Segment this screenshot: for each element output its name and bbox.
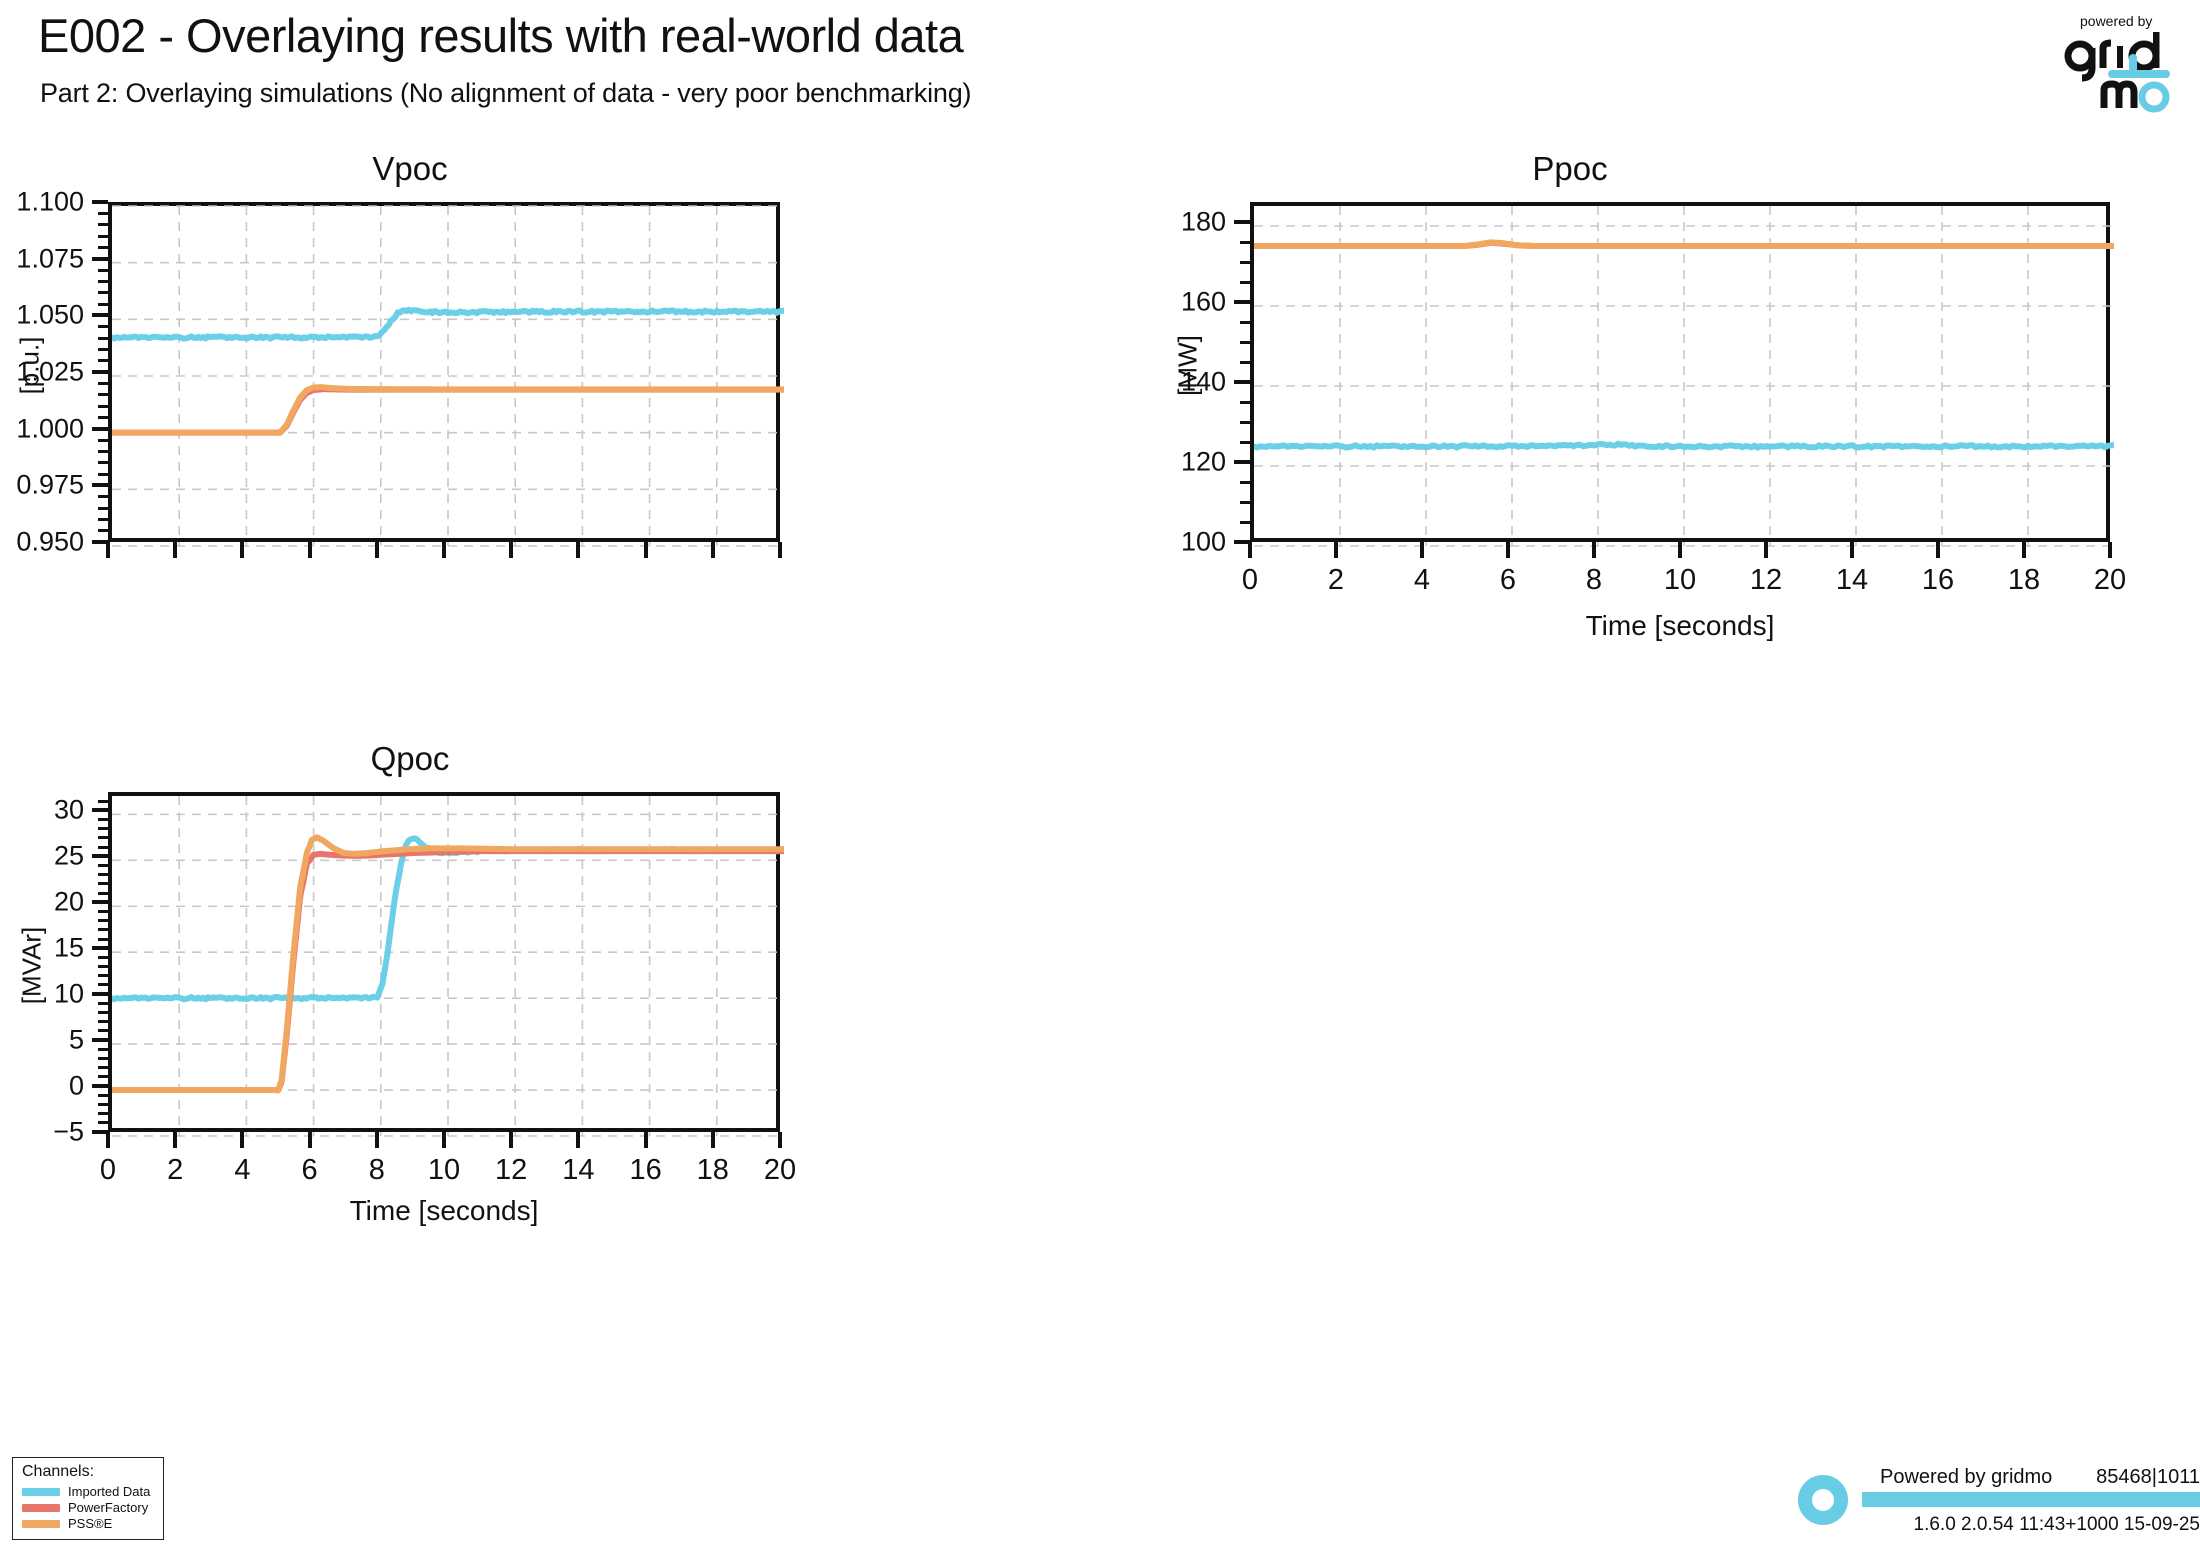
y-tick-minor — [98, 1048, 108, 1051]
y-tick-label: 5 — [0, 1025, 84, 1056]
x-tick-label: 18 — [697, 1154, 729, 1187]
y-tick-label: 1.075 — [0, 243, 84, 274]
page-subtitle: Part 2: Overlaying simulations (No align… — [40, 78, 971, 109]
y-tick-minor — [98, 507, 108, 510]
y-tick-minor — [1240, 241, 1250, 244]
y-tick-minor — [98, 303, 108, 306]
y-tick-minor — [98, 836, 108, 839]
y-tick-minor — [98, 382, 108, 385]
x-tick-label: 6 — [302, 1154, 318, 1187]
y-tick-minor — [98, 450, 108, 453]
x-tick-major — [106, 542, 110, 558]
x-tick-label: 18 — [2008, 564, 2040, 597]
plot-area-vpoc — [108, 202, 780, 542]
series-line-pss-e — [112, 387, 784, 433]
x-tick-major — [1850, 542, 1854, 558]
y-tick-major — [1234, 380, 1250, 384]
x-tick-major — [711, 1132, 715, 1148]
y-tick-label: 0 — [0, 1071, 84, 1102]
x-tick-major — [308, 542, 312, 558]
y-tick-minor — [1240, 521, 1250, 524]
legend-label-imported-data: Imported Data — [68, 1484, 150, 1499]
y-tick-minor — [98, 892, 108, 895]
y-tick-minor — [1240, 441, 1250, 444]
y-tick-label: 1.100 — [0, 187, 84, 218]
y-tick-minor — [98, 348, 108, 351]
x-tick-major — [106, 1132, 110, 1148]
footer-accent-circle-icon — [1798, 1475, 1848, 1525]
x-tick-label: 20 — [2094, 564, 2126, 597]
x-tick-label: 4 — [234, 1154, 250, 1187]
footer-run-id: 85468|1011 — [2096, 1466, 2200, 1489]
x-tick-major — [1506, 542, 1510, 558]
x-tick-label: 14 — [562, 1154, 594, 1187]
chart-title-ppoc: Ppoc — [1060, 150, 2080, 188]
x-tick-major — [711, 542, 715, 558]
y-tick-major — [92, 427, 108, 431]
x-tick-major — [2108, 542, 2112, 558]
x-tick-label: 8 — [369, 1154, 385, 1187]
legend-channels: Channels: Imported Data PowerFactory PSS… — [12, 1457, 164, 1540]
y-tick-minor — [1240, 421, 1250, 424]
y-tick-minor — [98, 938, 108, 941]
y-tick-minor — [98, 974, 108, 977]
x-tick-label: 0 — [1242, 564, 1258, 597]
x-tick-major — [375, 542, 379, 558]
y-tick-major — [92, 257, 108, 261]
x-tick-major — [576, 1132, 580, 1148]
y-tick-minor — [98, 864, 108, 867]
x-tick-major — [1678, 542, 1682, 558]
y-tick-label: 15 — [0, 933, 84, 964]
x-tick-label: 0 — [100, 1154, 116, 1187]
y-tick-minor — [1240, 341, 1250, 344]
y-tick-label: 1.025 — [0, 357, 84, 388]
plot-canvas-qpoc — [112, 796, 784, 1136]
y-tick-major — [1234, 220, 1250, 224]
x-tick-major — [240, 542, 244, 558]
x-tick-major — [1936, 542, 1940, 558]
x-tick-major — [1248, 542, 1252, 558]
x-tick-major — [778, 1132, 782, 1148]
y-tick-major — [92, 1084, 108, 1088]
legend-title: Channels: — [22, 1463, 154, 1481]
y-tick-minor — [98, 405, 108, 408]
y-tick-minor — [98, 882, 108, 885]
x-tick-label: 12 — [495, 1154, 527, 1187]
y-tick-minor — [98, 269, 108, 272]
y-tick-major — [92, 900, 108, 904]
y-tick-minor — [98, 223, 108, 226]
x-tick-major — [173, 542, 177, 558]
svg-text:powered by: powered by — [2080, 13, 2152, 29]
x-tick-major — [778, 542, 782, 558]
legend-swatch-psse — [22, 1520, 60, 1528]
y-tick-major — [92, 1038, 108, 1042]
figure-page: E002 - Overlaying results with real-worl… — [0, 0, 2200, 1546]
x-tick-label: 12 — [1750, 564, 1782, 597]
chart-title-qpoc: Qpoc — [0, 740, 820, 778]
x-tick-label: 14 — [1836, 564, 1868, 597]
x-tick-major — [442, 1132, 446, 1148]
y-tick-minor — [98, 337, 108, 340]
y-tick-minor — [98, 246, 108, 249]
y-tick-minor — [98, 1011, 108, 1014]
x-tick-major — [644, 542, 648, 558]
y-tick-minor — [1240, 281, 1250, 284]
y-tick-minor — [98, 495, 108, 498]
y-tick-minor — [98, 1094, 108, 1097]
y-tick-minor — [98, 827, 108, 830]
x-tick-major — [509, 542, 513, 558]
chart-title-vpoc: Vpoc — [0, 150, 820, 188]
y-tick-minor — [1240, 481, 1250, 484]
y-tick-minor — [98, 439, 108, 442]
y-tick-minor — [98, 473, 108, 476]
x-tick-major — [644, 1132, 648, 1148]
y-tick-minor — [98, 393, 108, 396]
y-tick-minor — [1240, 401, 1250, 404]
chart-ppoc: Ppoc [MW] Time [seconds] 100120140160180… — [1180, 150, 2200, 570]
page-title: E002 - Overlaying results with real-worl… — [38, 8, 963, 63]
y-tick-minor — [98, 1057, 108, 1060]
legend-item-powerfactory: PowerFactory — [22, 1500, 154, 1515]
y-tick-minor — [98, 965, 108, 968]
y-tick-minor — [1240, 501, 1250, 504]
footer-accent-bar — [1862, 1492, 2200, 1507]
y-tick-label: 1.050 — [0, 300, 84, 331]
y-tick-major — [1234, 460, 1250, 464]
y-tick-minor — [98, 359, 108, 362]
x-tick-label: 10 — [428, 1154, 460, 1187]
footer-version: 1.6.0 2.0.54 11:43+1000 15-09-25 — [1914, 1514, 2200, 1536]
y-tick-minor — [98, 212, 108, 215]
x-tick-label: 8 — [1586, 564, 1602, 597]
chart-vpoc: Vpoc [p.u.] 0.9500.9751.0001.0251.0501.0… — [0, 150, 820, 570]
plot-area-qpoc — [108, 792, 780, 1132]
y-tick-minor — [98, 1066, 108, 1069]
y-tick-minor — [98, 1103, 108, 1106]
y-tick-label: 100 — [1070, 527, 1226, 558]
y-tick-minor — [98, 1112, 108, 1115]
y-tick-major — [1234, 300, 1250, 304]
x-tick-label: 16 — [1922, 564, 1954, 597]
axis-label-y-ppoc: [MW] — [1173, 306, 1204, 426]
x-tick-major — [576, 542, 580, 558]
y-tick-major — [92, 313, 108, 317]
y-tick-minor — [98, 818, 108, 821]
y-tick-major — [92, 946, 108, 950]
y-tick-minor — [98, 529, 108, 532]
x-tick-label: 2 — [167, 1154, 183, 1187]
legend-label-powerfactory: PowerFactory — [68, 1500, 148, 1515]
x-tick-major — [1592, 542, 1596, 558]
x-tick-major — [1420, 542, 1424, 558]
legend-swatch-powerfactory — [22, 1504, 60, 1512]
x-tick-label: 2 — [1328, 564, 1344, 597]
legend-swatch-imported-data — [22, 1488, 60, 1496]
legend-item-imported-data: Imported Data — [22, 1484, 154, 1499]
y-tick-minor — [1240, 321, 1250, 324]
y-tick-minor — [98, 928, 108, 931]
x-tick-major — [240, 1132, 244, 1148]
y-tick-minor — [98, 1075, 108, 1078]
x-tick-major — [375, 1132, 379, 1148]
legend-item-psse: PSS®E — [22, 1516, 154, 1531]
plot-area-ppoc — [1250, 202, 2110, 542]
y-tick-label: 10 — [0, 979, 84, 1010]
x-tick-major — [2022, 542, 2026, 558]
x-tick-label: 20 — [764, 1154, 796, 1187]
legend-label-psse: PSS®E — [68, 1516, 112, 1531]
x-tick-major — [1334, 542, 1338, 558]
y-tick-label: 0.975 — [0, 470, 84, 501]
y-tick-label: 1.000 — [0, 413, 84, 444]
y-tick-minor — [98, 280, 108, 283]
y-tick-minor — [98, 1002, 108, 1005]
x-tick-label: 10 — [1664, 564, 1696, 597]
y-tick-label: 30 — [0, 795, 84, 826]
gridmo-logo-svg: powered by — [2062, 8, 2192, 118]
gridmo-logo: powered by — [2062, 8, 2192, 118]
y-tick-minor — [98, 1020, 108, 1023]
y-tick-minor — [98, 800, 108, 803]
y-tick-minor — [98, 461, 108, 464]
y-tick-minor — [1240, 361, 1250, 364]
x-tick-label: 16 — [629, 1154, 661, 1187]
y-tick-label: 160 — [1070, 287, 1226, 318]
figure-header: E002 - Overlaying results with real-worl… — [0, 0, 2200, 140]
x-tick-label: 6 — [1500, 564, 1516, 597]
y-tick-minor — [98, 983, 108, 986]
y-tick-major — [92, 854, 108, 858]
y-tick-label: 20 — [0, 887, 84, 918]
x-tick-major — [308, 1132, 312, 1148]
y-tick-label: 25 — [0, 841, 84, 872]
y-tick-major — [92, 992, 108, 996]
axis-label-x-ppoc: Time [seconds] — [1250, 610, 2110, 642]
plot-canvas-ppoc — [1254, 206, 2114, 546]
y-tick-minor — [98, 1121, 108, 1124]
y-tick-label: 120 — [1070, 447, 1226, 478]
series-line-imported-data — [1254, 444, 2114, 448]
y-tick-label: −5 — [0, 1117, 84, 1148]
footer-powered-by: Powered by gridmo — [1880, 1466, 2052, 1489]
y-tick-minor — [98, 291, 108, 294]
y-tick-label: 180 — [1070, 207, 1226, 238]
y-tick-minor — [98, 956, 108, 959]
y-tick-minor — [98, 518, 108, 521]
y-tick-minor — [98, 873, 108, 876]
y-tick-major — [92, 200, 108, 204]
y-tick-major — [92, 808, 108, 812]
figure-footer: Powered by gridmo 85468|1011 1.6.0 2.0.5… — [1780, 1452, 2200, 1546]
y-tick-minor — [98, 846, 108, 849]
y-tick-minor — [1240, 261, 1250, 264]
y-tick-label: 140 — [1070, 367, 1226, 398]
y-tick-label: 0.950 — [0, 527, 84, 558]
y-tick-major — [92, 483, 108, 487]
y-tick-minor — [98, 235, 108, 238]
x-tick-label: 4 — [1414, 564, 1430, 597]
y-tick-minor — [98, 919, 108, 922]
y-tick-minor — [98, 1029, 108, 1032]
y-tick-major — [92, 370, 108, 374]
axis-label-x-qpoc: Time [seconds] — [108, 1195, 780, 1227]
y-tick-minor — [98, 416, 108, 419]
x-tick-major — [509, 1132, 513, 1148]
series-line-powerfactory — [112, 389, 784, 433]
y-tick-minor — [98, 910, 108, 913]
plot-canvas-vpoc — [112, 206, 784, 546]
x-tick-major — [1764, 542, 1768, 558]
x-tick-major — [442, 542, 446, 558]
chart-qpoc: Qpoc [MVAr] Time [seconds] −505101520253… — [0, 740, 820, 1190]
x-tick-major — [173, 1132, 177, 1148]
y-tick-minor — [98, 325, 108, 328]
